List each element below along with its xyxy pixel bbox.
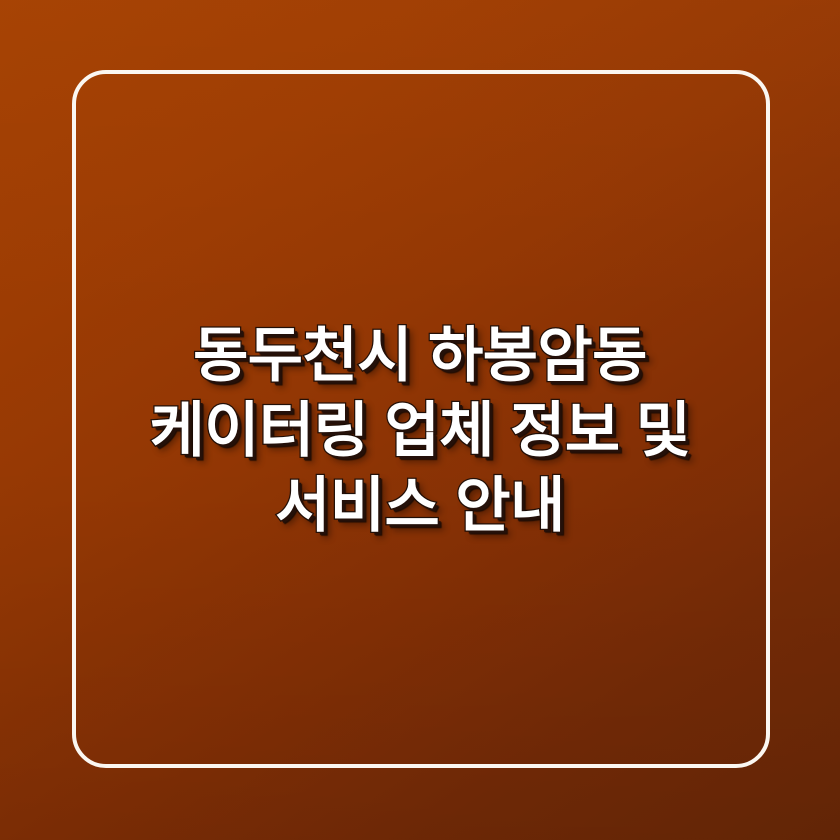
title-line-2: 케이터링 업체 정보 및 xyxy=(86,393,754,468)
title-line-1: 동두천시 하봉암동 xyxy=(86,318,754,393)
banner-card: 동두천시 하봉암동 케이터링 업체 정보 및 서비스 안내 xyxy=(0,0,840,840)
title-line-3: 서비스 안내 xyxy=(86,468,754,543)
page-title: 동두천시 하봉암동 케이터링 업체 정보 및 서비스 안내 xyxy=(0,318,840,543)
